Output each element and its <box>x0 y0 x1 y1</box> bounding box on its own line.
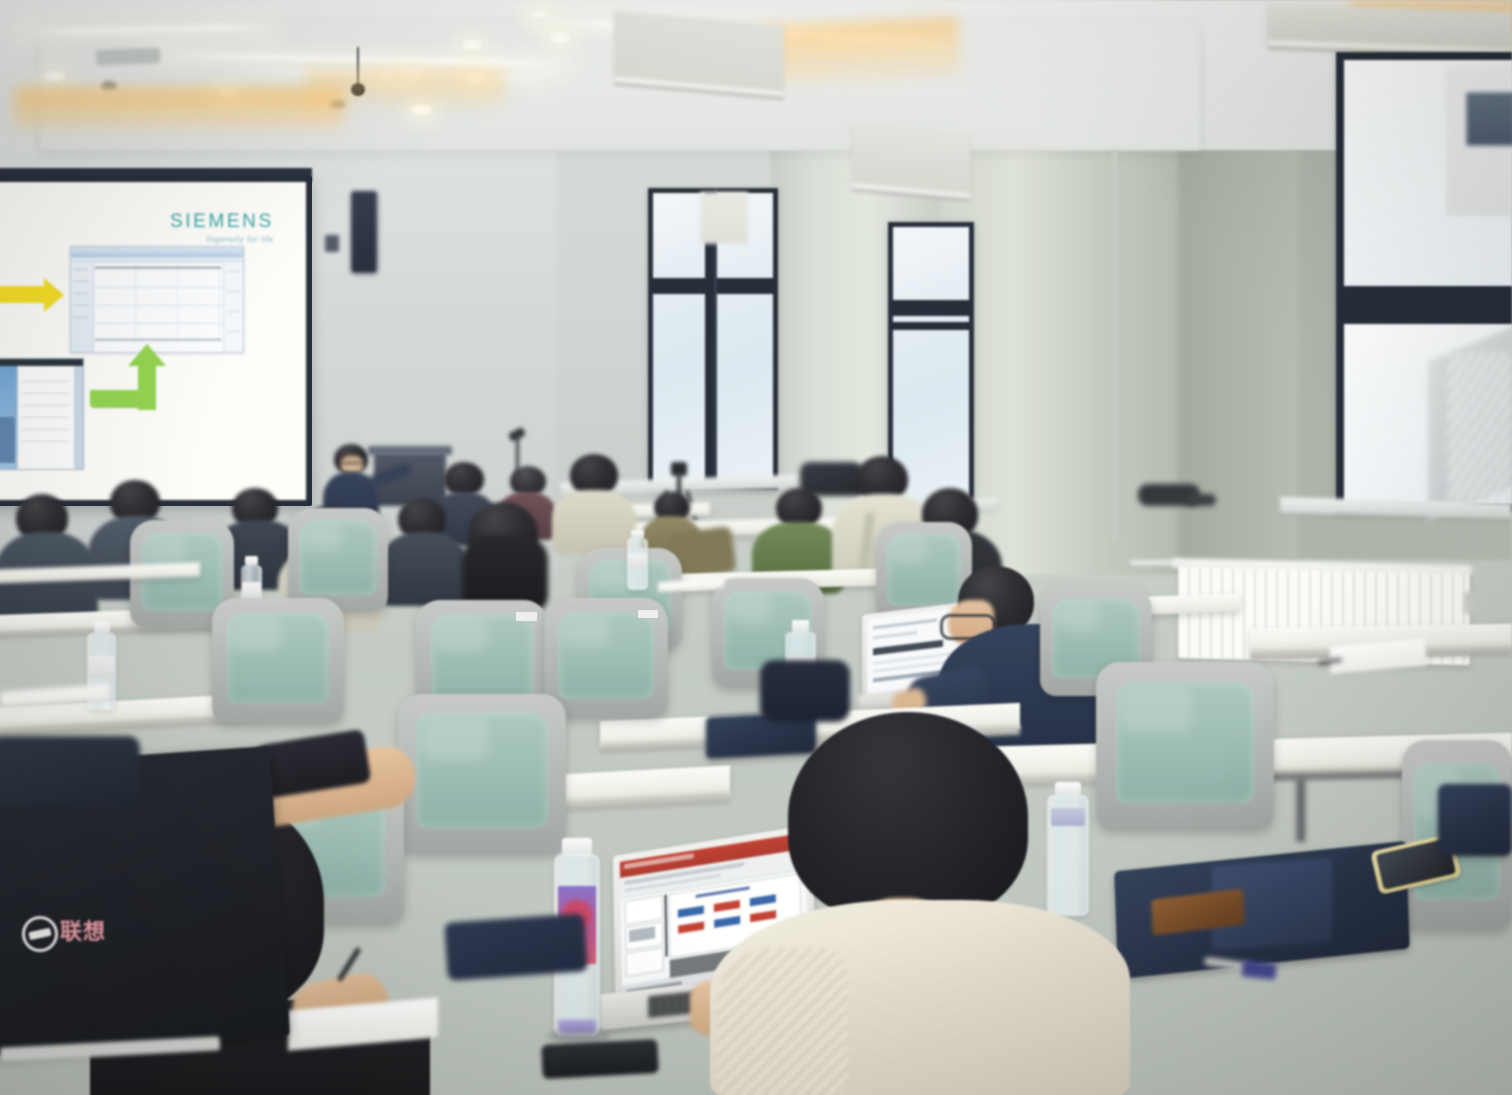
bottle-label <box>1051 808 1085 826</box>
slide-panel-row <box>227 291 240 292</box>
slide-window-grid <box>93 264 223 342</box>
slide-sidebar-row <box>74 269 88 270</box>
lenovo-logo-icon <box>22 916 52 946</box>
radiator-pipe <box>1130 560 1186 565</box>
exterior-roof-tiles <box>1448 352 1512 502</box>
exterior-ac-unit <box>1466 92 1512 146</box>
ppt-pane-divider <box>665 894 668 956</box>
water-bottle <box>626 530 648 590</box>
slide-window-sidebar <box>71 262 94 352</box>
secondary-window-3d-shape <box>0 417 15 463</box>
tripod-column <box>677 474 681 494</box>
secondary-window-titlebar <box>0 359 83 366</box>
cove-light-glow <box>305 70 505 110</box>
bottle-cap <box>94 622 110 633</box>
chair[interactable] <box>398 694 566 854</box>
bottle-cap <box>1055 782 1081 796</box>
projection-screen: SIEMENS Ingenuity for life <box>0 176 312 506</box>
wall-pipe <box>1112 150 1119 540</box>
slide-grid-topline <box>95 267 221 268</box>
desk-leg <box>1296 778 1305 842</box>
slide-sidebar-row <box>74 317 88 318</box>
cable-coil <box>1186 494 1216 506</box>
ppt-slide-thumbnail[interactable] <box>625 895 663 925</box>
slide-window-titlebar <box>71 247 243 257</box>
wall-speaker-icon <box>351 191 377 273</box>
window-mullion <box>888 322 974 330</box>
cove-light-glow <box>759 17 962 87</box>
chair[interactable] <box>212 598 344 724</box>
bag <box>0 736 140 806</box>
presenter-glasses <box>340 461 364 465</box>
window-pane <box>653 193 705 485</box>
slide-panel-row <box>227 311 240 312</box>
secondary-window-scrollbar[interactable] <box>74 366 83 469</box>
bottle-label <box>242 582 261 598</box>
bottle-label <box>89 656 114 678</box>
bag <box>444 913 588 981</box>
attendee-head <box>444 462 484 496</box>
siemens-logo: SIEMENS Ingenuity for life <box>170 211 274 244</box>
bottle-label <box>628 554 647 569</box>
chair[interactable] <box>1096 662 1274 830</box>
slide-sidebar-row <box>74 305 88 306</box>
window-mullion <box>1336 286 1512 310</box>
lenovo-wordmark-cn: 联想 <box>60 914 106 946</box>
downlight <box>529 9 549 20</box>
cove-light-glow <box>14 88 344 132</box>
slide-grid-bottomline <box>95 339 221 340</box>
slide-panel-row <box>227 331 240 332</box>
cream-woman-sleeve <box>716 948 848 1095</box>
phone-on-desk[interactable] <box>541 1039 659 1079</box>
podium-top <box>368 446 452 455</box>
luggage-tag <box>1241 960 1276 979</box>
attendee-body <box>380 532 468 606</box>
radiator-valve <box>1464 592 1476 614</box>
window-mullion <box>888 300 974 316</box>
bag <box>1438 784 1512 856</box>
window-blind-reveal <box>700 192 748 244</box>
slide-app-window <box>70 246 244 353</box>
slide-window-toolbar <box>71 257 243 263</box>
ac-vent-icon <box>96 48 160 65</box>
slide-secondary-window <box>0 358 84 470</box>
water-bottle <box>1046 782 1090 916</box>
classroom-photo: SIEMENS Ingenuity for life <box>0 0 1512 1095</box>
slide-window-rightpanel <box>223 262 243 352</box>
bottle-cap <box>792 620 809 632</box>
lenovo-logo-text: 联想 <box>60 919 106 944</box>
downlight <box>42 69 68 84</box>
slide-sidebar-row <box>74 281 88 282</box>
siemens-tagline: Ingenuity for life <box>170 235 274 244</box>
chair[interactable] <box>288 508 388 612</box>
speaker-mount-bracket <box>325 235 339 252</box>
bottle-cap <box>631 530 644 538</box>
attendee-torso-dark <box>760 660 850 722</box>
downlight <box>547 30 573 45</box>
downlight <box>459 37 485 52</box>
slide-panel-row <box>227 271 240 272</box>
bottle-cap <box>245 556 258 565</box>
slide-sidebar-row <box>74 293 88 294</box>
attendee-body <box>552 490 636 554</box>
ppt-slide-thumbnail[interactable] <box>625 947 663 977</box>
window-mullion <box>1336 314 1512 324</box>
window-right-bank <box>1336 52 1512 512</box>
siemens-wordmark: SIEMENS <box>170 211 274 233</box>
cream-woman-hair <box>788 712 1028 922</box>
